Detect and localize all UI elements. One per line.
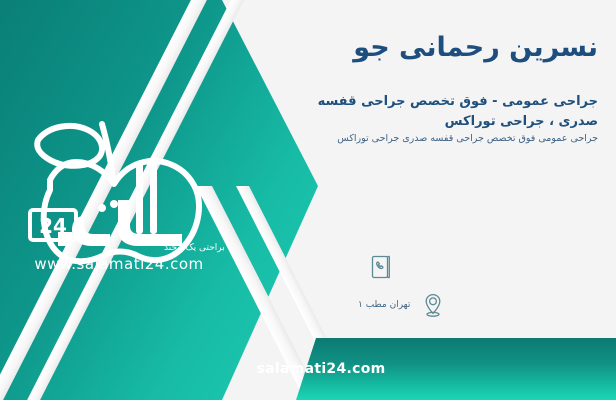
doctor-profile-card: 24 براحتی یک لبخند www.salamati24.com نس… <box>0 0 616 400</box>
apple-outline-icon: 24 براحتی یک لبخند www.salamati24.com <box>14 104 224 274</box>
logo-badge-number: 24 <box>39 214 67 238</box>
contact-label-location: تهران مطب ۱ <box>358 300 410 310</box>
doctor-name: نسرین رحمانی جو <box>238 30 598 66</box>
footer-website[interactable]: salamati24.com <box>0 338 616 400</box>
logo-tagline: براحتی یک لبخند <box>164 243 224 253</box>
doctor-specialty-sub: جراحی عمومی فوق تخصص جراحی قفسه صدری جرا… <box>298 131 598 147</box>
contact-row-phone[interactable] <box>358 252 598 282</box>
contact-list: تهران مطب ۱ <box>358 252 598 328</box>
brand-logo[interactable]: 24 براحتی یک لبخند www.salamati24.com <box>14 104 224 274</box>
contact-row-location[interactable]: تهران مطب ۱ <box>358 290 598 320</box>
map-pin-icon <box>418 290 448 320</box>
phone-book-icon <box>366 252 396 282</box>
logo-website[interactable]: www.salamati24.com <box>34 255 203 273</box>
doctor-specialty: جراحی عمومی - فوق تخصص جراحی قفسه صدری ،… <box>298 92 598 132</box>
